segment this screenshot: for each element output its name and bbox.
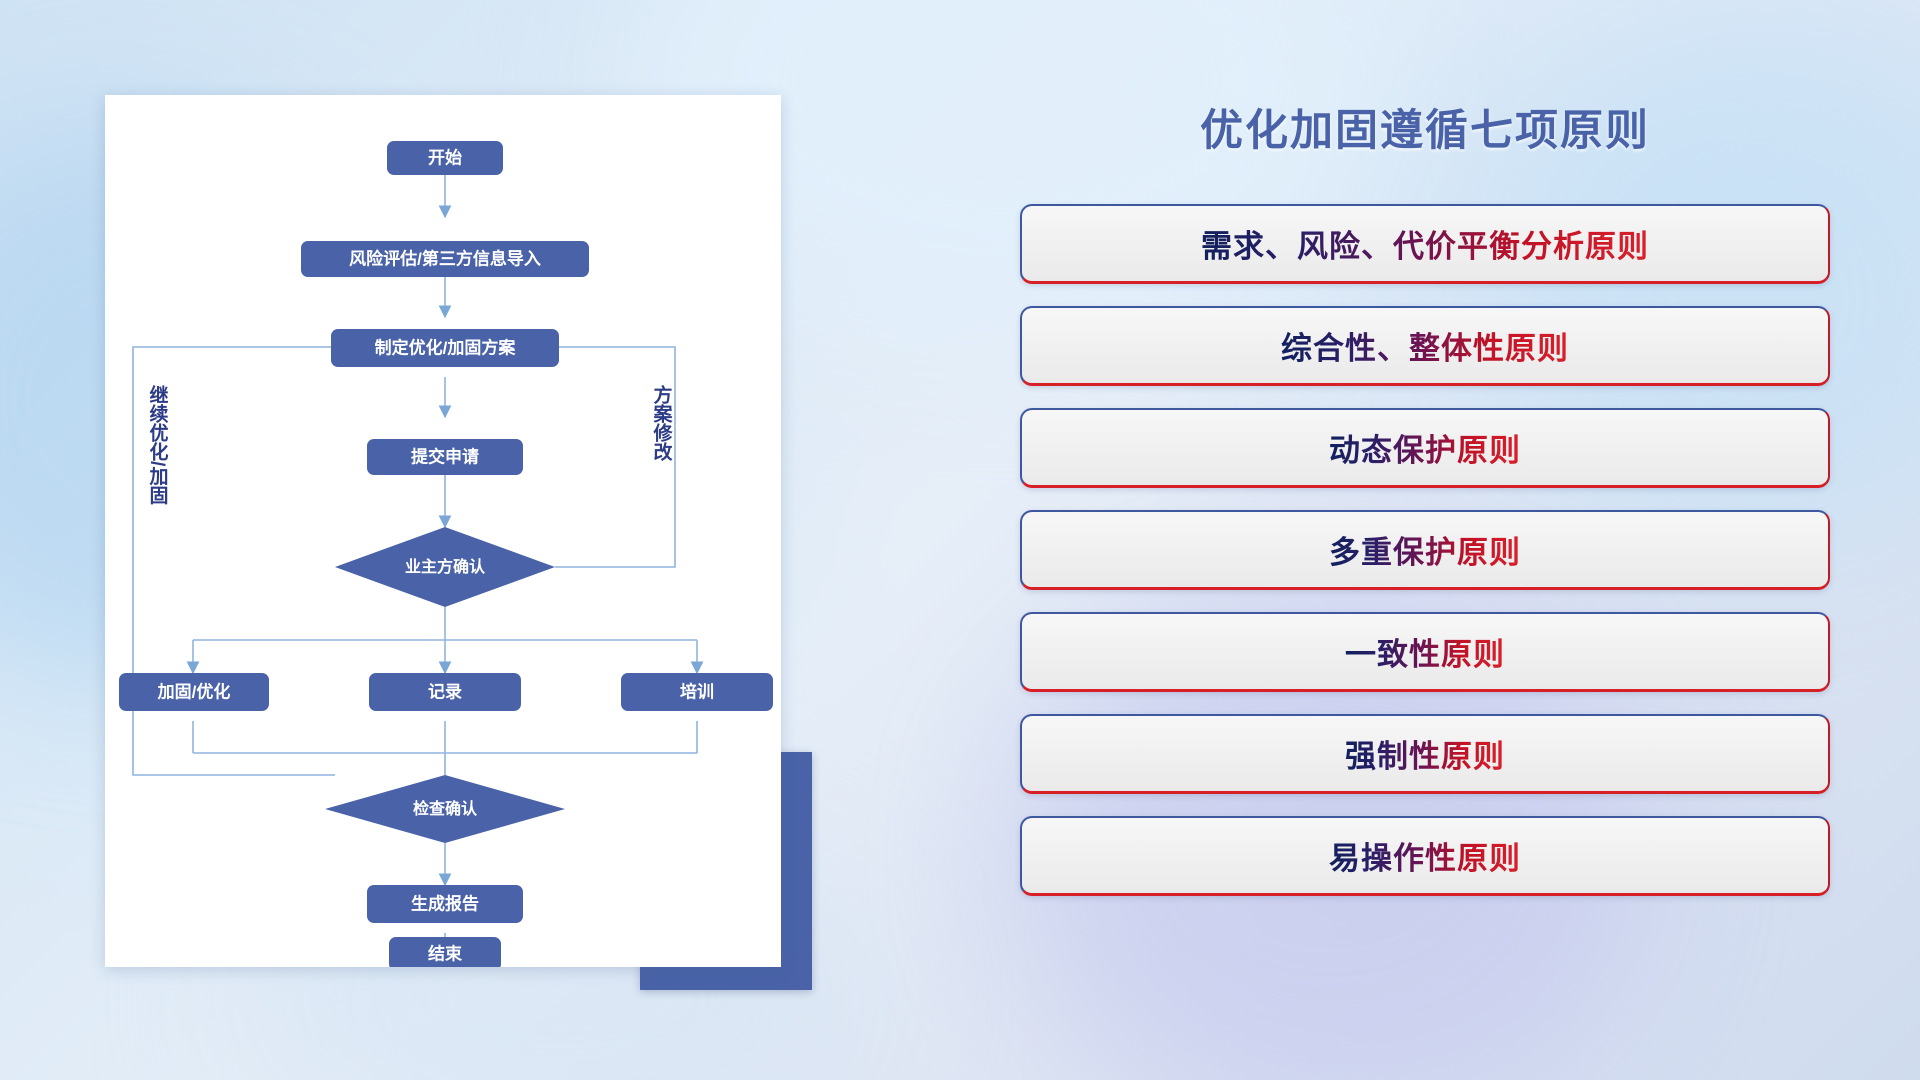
node-start[interactable]: 开始 [387,141,503,175]
slide-canvas: 开始 风险评估/第三方信息导入 制定优化/加固方案 提交申请 业主方确认 加固/ [0,0,1920,1080]
principle-card[interactable]: 一致性原则 [1020,612,1830,692]
node-report-label: 生成报告 [411,893,479,913]
principle-card[interactable]: 多重保护原则 [1020,510,1830,590]
edge-owner-plan-revise [505,347,675,567]
node-training-label: 培训 [680,681,714,701]
node-submit-label: 提交申请 [411,446,479,466]
principle-label: 一致性原则 [1345,629,1505,674]
principle-card[interactable]: 综合性、整体性原则 [1020,306,1830,386]
flowchart-diagram: 开始 风险评估/第三方信息导入 制定优化/加固方案 提交申请 业主方确认 加固/ [105,95,781,967]
node-submit[interactable]: 提交申请 [367,439,523,475]
principle-card[interactable]: 需求、风险、代价平衡分析原则 [1020,204,1830,284]
principles-list: 需求、风险、代价平衡分析原则 综合性、整体性原则 动态保护原则 多重保护原则 一… [1020,204,1830,896]
edge-label-continue-optimize: 继续优化/加固 [147,384,170,505]
principle-label: 动态保护原则 [1329,425,1521,470]
node-plan-label: 制定优化/加固方案 [375,337,517,357]
node-reinforce[interactable]: 加固/优化 [119,673,269,711]
principle-label: 易操作性原则 [1329,833,1521,878]
node-end[interactable]: 结束 [389,937,501,967]
node-report[interactable]: 生成报告 [367,885,523,923]
flowchart-card: 开始 风险评估/第三方信息导入 制定优化/加固方案 提交申请 业主方确认 加固/ [105,95,781,967]
node-owner-confirm-label: 业主方确认 [405,557,486,576]
node-owner-confirm[interactable]: 业主方确认 [335,527,555,607]
principles-panel: 优化加固遵循七项原则 需求、风险、代价平衡分析原则 综合性、整体性原则 动态保护… [1020,96,1830,996]
node-risk-assessment-label: 风险评估/第三方信息导入 [349,248,541,268]
node-risk-assessment[interactable]: 风险评估/第三方信息导入 [301,241,589,277]
principle-label: 多重保护原则 [1329,527,1521,572]
principle-label: 需求、风险、代价平衡分析原则 [1201,221,1649,266]
node-reinforce-label: 加固/优化 [157,681,231,701]
principle-label: 强制性原则 [1345,731,1505,776]
node-check-confirm-label: 检查确认 [413,799,478,818]
principle-card[interactable]: 强制性原则 [1020,714,1830,794]
node-end-label: 结束 [428,943,462,963]
panel-title: 优化加固遵循七项原则 [1020,96,1830,158]
node-check-confirm[interactable]: 检查确认 [325,775,565,843]
node-record-label: 记录 [428,682,462,701]
edge-label-plan-revision: 方案修改 [651,384,674,462]
principle-card[interactable]: 动态保护原则 [1020,408,1830,488]
node-training[interactable]: 培训 [621,673,773,711]
node-plan[interactable]: 制定优化/加固方案 [331,329,559,367]
principle-card[interactable]: 易操作性原则 [1020,816,1830,896]
principle-label: 综合性、整体性原则 [1281,323,1569,368]
node-record[interactable]: 记录 [369,673,521,711]
node-start-label: 开始 [428,147,462,167]
